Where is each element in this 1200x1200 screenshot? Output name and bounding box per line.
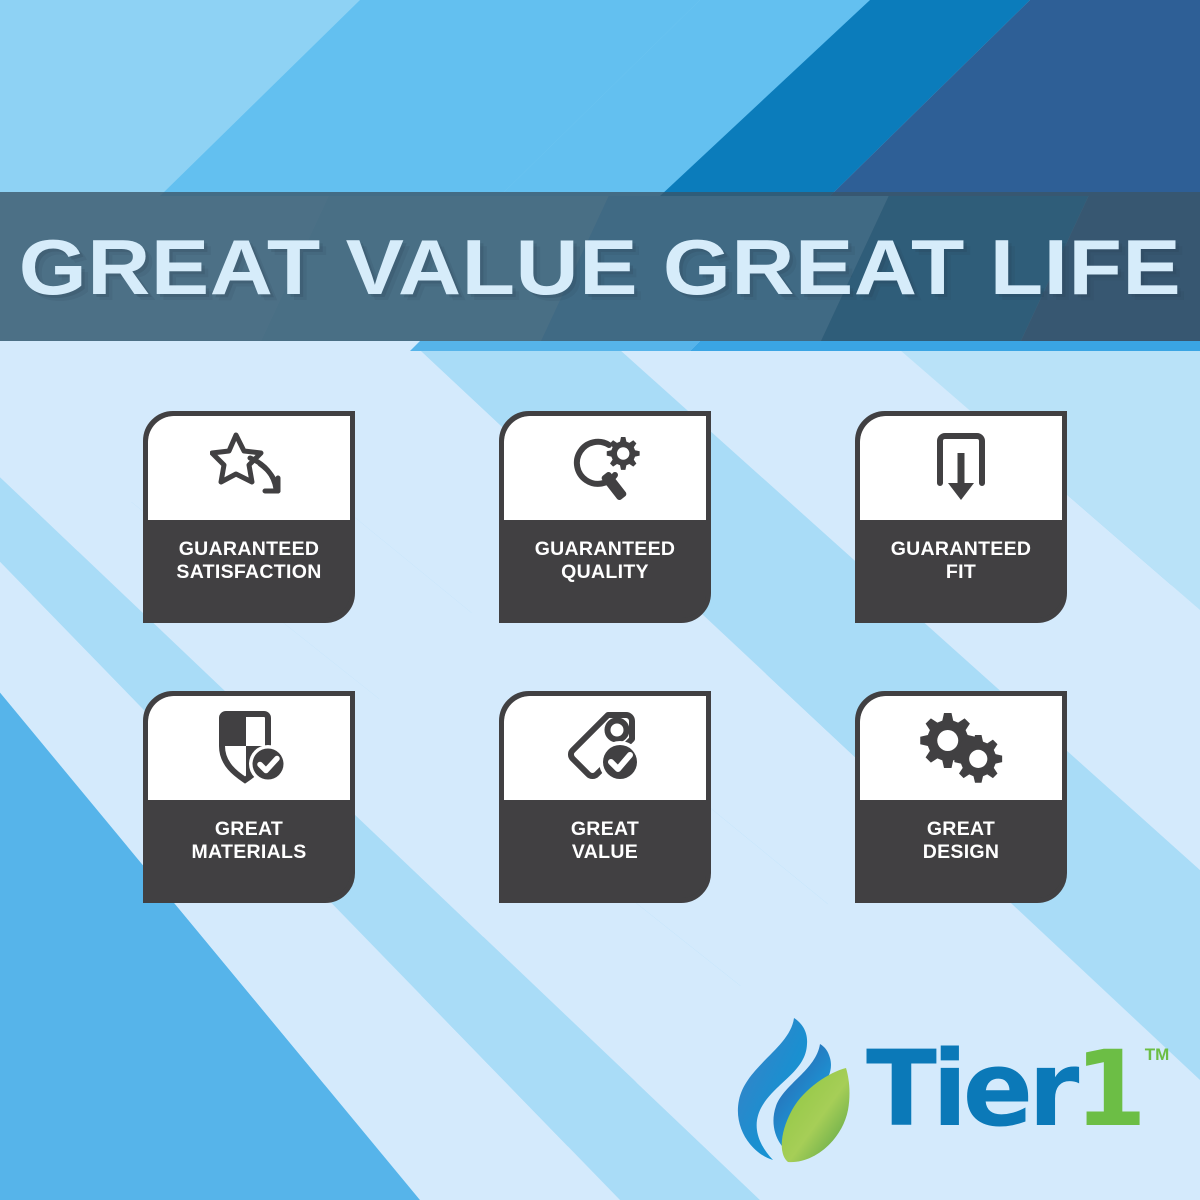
logo-wordmark: Tier 1 TM [866, 1037, 1169, 1141]
shield-check-icon [210, 710, 288, 786]
badge-icon-area [148, 416, 350, 520]
badge-label: GREAT MATERIALS [148, 800, 350, 898]
badge-label-line2: QUALITY [561, 562, 649, 584]
badge-great-design[interactable]: GREAT DESIGN [855, 691, 1067, 903]
badge-great-materials[interactable]: GREAT MATERIALS [143, 691, 355, 903]
badge-icon-area [860, 696, 1062, 800]
logo-word-one: 1 [1074, 1037, 1141, 1141]
tier1-droplet-leaf-icon [718, 1014, 858, 1164]
trademark-symbol: TM [1145, 1045, 1170, 1065]
badge-label-line1: GUARANTEED [535, 539, 676, 561]
page-title: GREAT VALUE GREAT LIFE [19, 228, 1182, 306]
badge-label-line1: GREAT [571, 819, 639, 841]
badge-label-line1: GUARANTEED [179, 539, 320, 561]
logo-word-tier: Tier [866, 1037, 1074, 1141]
badge-label-line2: DESIGN [923, 842, 1000, 864]
box-down-arrow-icon [926, 431, 996, 505]
badge-great-value[interactable]: GREAT VALUE [499, 691, 711, 903]
badge-label: GUARANTEED FIT [860, 520, 1062, 618]
badge-icon-area [504, 416, 706, 520]
badge-label: GUARANTEED QUALITY [504, 520, 706, 618]
badge-label-line1: GREAT [927, 819, 995, 841]
magnifier-gear-icon [565, 431, 645, 505]
gear-shape [607, 437, 640, 470]
badge-label-line1: GUARANTEED [891, 539, 1032, 561]
headline-banner: GREAT VALUE GREAT LIFE [0, 192, 1200, 341]
badge-guaranteed-quality[interactable]: GUARANTEED QUALITY [499, 411, 711, 623]
badge-icon-area [860, 416, 1062, 520]
shooting-star-icon [210, 431, 288, 505]
poster-canvas: GREAT VALUE GREAT LIFE G [0, 0, 1200, 1200]
badge-icon-area [504, 696, 706, 800]
badge-label-line2: MATERIALS [192, 842, 307, 864]
two-gears-icon [919, 709, 1003, 787]
badge-label-line2: SATISFACTION [176, 562, 321, 584]
price-tag-check-icon [564, 710, 646, 786]
badge-row-2: GREAT MATERIALS GREAT VAL [143, 691, 1063, 903]
badge-icon-area [148, 696, 350, 800]
badge-row-1: GUARANTEED SATISFACTION [143, 411, 1063, 623]
badge-guaranteed-satisfaction[interactable]: GUARANTEED SATISFACTION [143, 411, 355, 623]
badge-label: GUARANTEED SATISFACTION [148, 520, 350, 618]
badge-label-line2: VALUE [572, 842, 638, 864]
badge-label-line2: FIT [946, 562, 976, 584]
feature-badge-grid: GUARANTEED SATISFACTION [143, 411, 1063, 903]
badge-label-line1: GREAT [215, 819, 283, 841]
badge-guaranteed-fit[interactable]: GUARANTEED FIT [855, 411, 1067, 623]
tier1-logo[interactable]: Tier 1 TM [718, 1014, 1158, 1164]
badge-label: GREAT VALUE [504, 800, 706, 898]
badge-label: GREAT DESIGN [860, 800, 1062, 898]
